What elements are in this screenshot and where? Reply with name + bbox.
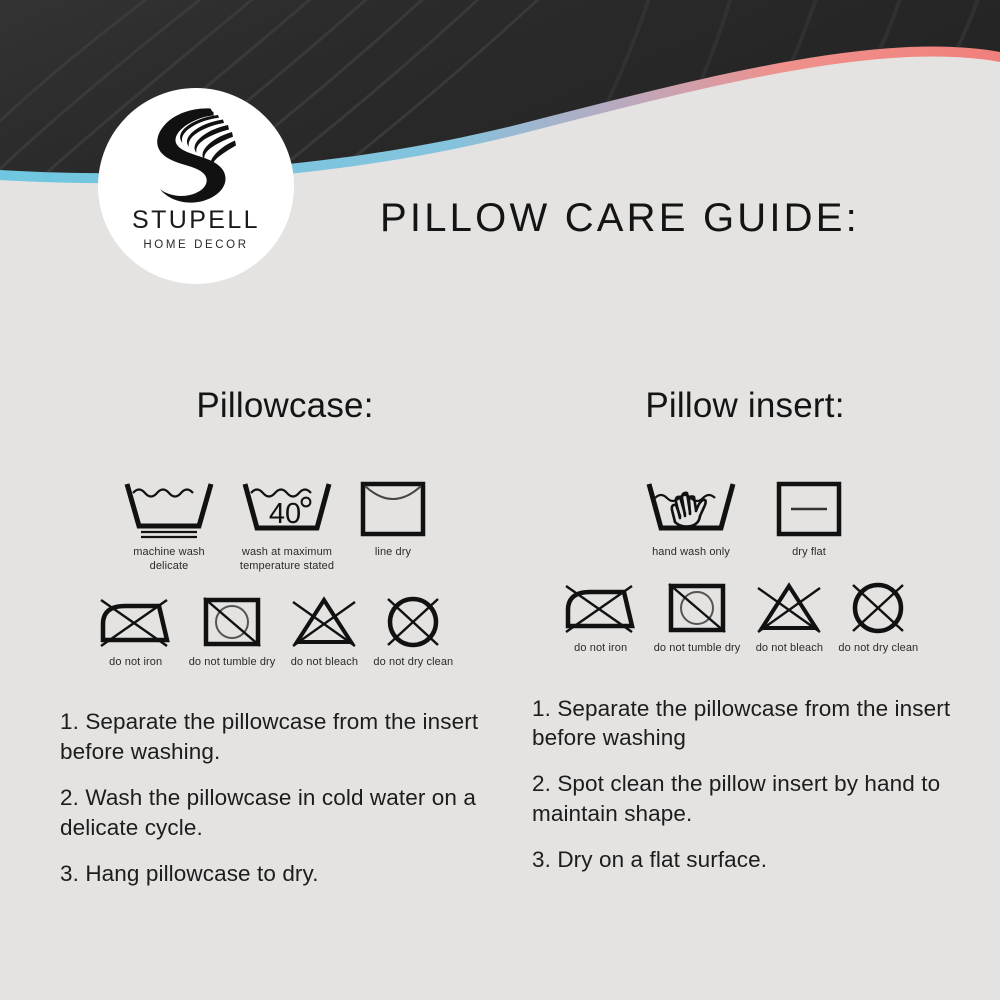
pillowcase-icon-row-2: do not iron do not tumble dry do not ble…: [60, 594, 490, 670]
icon-cell-hand-wash-only: hand wash only: [643, 478, 739, 560]
icon-caption: dry flat: [792, 546, 826, 560]
icon-caption: do not tumble dry: [189, 656, 276, 670]
icon-caption: do not iron: [574, 642, 627, 656]
list-item: 3. Dry on a flat surface.: [532, 845, 952, 875]
do-not-iron-icon: [97, 594, 175, 650]
icon-cell-do-not-bleach: do not bleach: [754, 580, 824, 656]
do-not-bleach-icon: [754, 580, 824, 636]
pillowcase-column: Pillowcase: machine washdelicate 40: [60, 386, 490, 889]
icon-caption: machine washdelicate: [133, 546, 205, 574]
icon-caption: do not dry clean: [838, 642, 918, 656]
icon-cell-do-not-dry-clean: do not dry clean: [373, 594, 453, 670]
icon-cell-do-not-dry-clean: do not dry clean: [838, 580, 918, 656]
stupell-swoosh-logo-icon: [136, 102, 256, 206]
pillow-insert-heading: Pillow insert:: [520, 386, 960, 426]
do-not-tumble-dry-icon: [200, 594, 264, 650]
list-item: 2. Spot clean the pillow insert by hand …: [532, 769, 952, 829]
do-not-dry-clean-icon: [381, 594, 445, 650]
brand-logo-badge: STUPELL HOME DECOR: [98, 88, 294, 284]
pillow-insert-icon-row-2: do not iron do not tumble dry do not ble…: [520, 580, 960, 656]
dry-flat-icon: [773, 478, 845, 540]
do-not-iron-icon: [562, 580, 640, 636]
icon-cell-do-not-bleach: do not bleach: [289, 594, 359, 670]
hand-wash-icon: [643, 478, 739, 540]
icon-cell-do-not-iron: do not iron: [97, 594, 175, 670]
icon-cell-do-not-tumble-dry: do not tumble dry: [654, 580, 741, 656]
pillow-insert-steps-list: 1. Separate the pillowcase from the inse…: [520, 694, 952, 876]
list-item: 2. Wash the pillowcase in cold water on …: [60, 783, 490, 843]
list-item: 1. Separate the pillowcase from the inse…: [60, 707, 490, 767]
do-not-bleach-icon: [289, 594, 359, 650]
line-dry-icon: [357, 478, 429, 540]
pillow-care-guide-page: STUPELL HOME DECOR PILLOW CARE GUIDE: Pi…: [0, 0, 1000, 1000]
wash-basin-delicate-icon: [121, 478, 217, 540]
icon-caption: line dry: [375, 546, 411, 560]
do-not-dry-clean-icon: [846, 580, 910, 636]
icon-caption: do not tumble dry: [654, 642, 741, 656]
icon-cell-machine-wash-delicate: machine washdelicate: [121, 478, 217, 574]
icon-caption: do not bleach: [756, 642, 823, 656]
page-title: PILLOW CARE GUIDE:: [0, 196, 1000, 241]
list-item: 3. Hang pillowcase to dry.: [60, 859, 490, 889]
icon-caption: do not dry clean: [373, 656, 453, 670]
svg-text:40: 40: [269, 498, 301, 530]
icon-cell-line-dry: line dry: [357, 478, 429, 560]
pillowcase-heading: Pillowcase:: [60, 386, 490, 426]
pillowcase-icon-row-1: machine washdelicate 40 wash at maximumt…: [60, 478, 490, 574]
list-item: 1. Separate the pillowcase from the inse…: [532, 694, 952, 754]
icon-caption: hand wash only: [652, 546, 730, 560]
pillow-insert-column: Pillow insert: hand wash only: [520, 386, 960, 875]
icon-cell-do-not-iron: do not iron: [562, 580, 640, 656]
do-not-tumble-dry-icon: [665, 580, 729, 636]
icon-cell-do-not-tumble-dry: do not tumble dry: [189, 594, 276, 670]
brand-tagline: HOME DECOR: [143, 240, 248, 252]
pillow-insert-icon-row-1: hand wash only dry flat: [520, 478, 960, 560]
icon-cell-wash-40-degrees: 40 wash at maximumtemperature stated: [239, 478, 335, 574]
icon-cell-dry-flat: dry flat: [773, 478, 845, 560]
pillowcase-steps-list: 1. Separate the pillowcase from the inse…: [60, 707, 490, 889]
icon-caption: do not bleach: [291, 656, 358, 670]
wash-basin-40-degrees-icon: 40: [239, 478, 335, 540]
icon-caption: do not iron: [109, 656, 162, 670]
icon-caption: wash at maximumtemperature stated: [240, 546, 334, 574]
